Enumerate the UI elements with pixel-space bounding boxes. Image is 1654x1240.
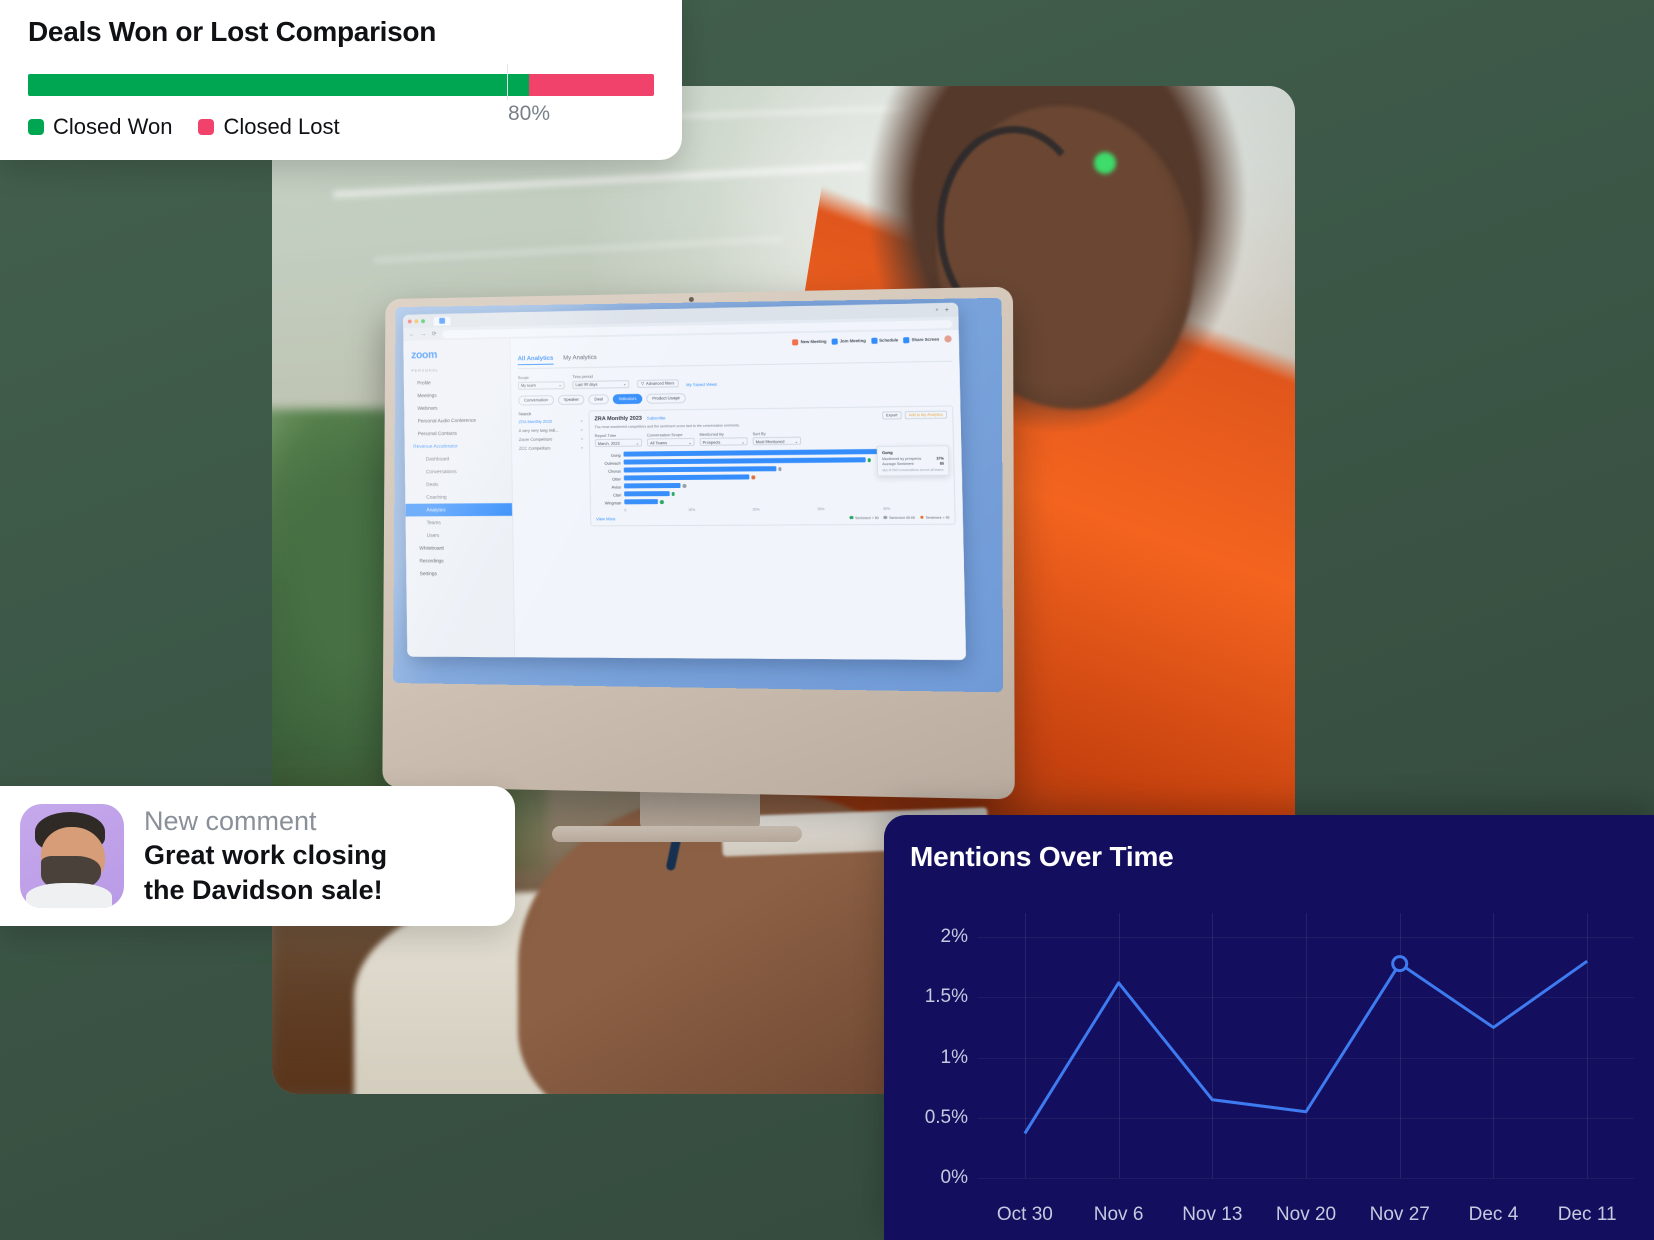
view-more-link[interactable]: View More	[596, 516, 615, 521]
forward-icon[interactable]: →	[420, 331, 426, 337]
tab-favicon-icon	[439, 318, 445, 324]
chip-speaker[interactable]: Speaker	[558, 394, 585, 404]
legend-label: Sentiment < 40	[926, 515, 950, 519]
conversation-scope-select[interactable]: All Teams⌄	[647, 438, 695, 447]
sort-by-field: Sort By Most Mentioned⌄	[752, 430, 801, 445]
deals-card: Deals Won or Lost Comparison Closed Won …	[0, 0, 682, 160]
sentiment-dot-icon	[751, 475, 755, 479]
bar-label: Otter	[595, 476, 621, 481]
bar-fill	[624, 483, 681, 488]
browser-window: × + ← → ⟳ zoom PERSONAL Pr	[403, 303, 966, 660]
chip-conversation[interactable]: Conversation	[518, 395, 554, 405]
new-meeting-label: New Meeting	[801, 339, 827, 345]
advanced-filters-button[interactable]: ▽Advanced filters	[637, 379, 678, 388]
chip-indicators[interactable]: Indicators	[613, 393, 643, 403]
sort-by-value: Most Mentioned	[756, 438, 785, 443]
closed-lost-swatch	[198, 119, 214, 135]
report-card: ZRA Monthly 2023 Subscribe Export Add to…	[588, 405, 955, 526]
legend-item: Sentiment 40-60	[884, 515, 915, 519]
deals-progress-bar	[28, 74, 654, 96]
tooltip-note: Out of 200 conversations across all team…	[882, 468, 944, 473]
deals-percent-label: 80%	[508, 102, 550, 126]
remove-icon[interactable]: ×	[581, 436, 583, 441]
plus-icon	[832, 338, 838, 344]
closed-lost-segment	[529, 74, 654, 96]
bar-fill	[624, 466, 777, 472]
y-tick-label: 0%	[941, 1167, 968, 1189]
closed-won-swatch	[28, 119, 44, 135]
closed-lost-label: Closed Lost	[223, 114, 339, 140]
x-tick-label: Oct 30	[978, 1204, 1072, 1226]
search-result-item[interactable]: A very very long indi...×	[519, 427, 583, 433]
x-axis-labels: Oct 30Nov 6Nov 13Nov 20Nov 27Dec 4Dec 11	[978, 1204, 1634, 1226]
sentiment-high-icon	[850, 516, 854, 519]
search-result-item[interactable]: Zoom Competitors×	[519, 436, 583, 442]
search-label: Search	[518, 410, 582, 416]
legend-label: Sentiment 40-60	[889, 515, 915, 519]
monitor-stand-foot	[552, 826, 802, 842]
monitor-screen: × + ← → ⟳ zoom PERSONAL Pr	[393, 298, 1003, 692]
sidebar-item-personal-contacts[interactable]: Personal Contacts	[404, 426, 511, 440]
app-body: zoom PERSONAL Profile Meetings Webinars …	[403, 330, 966, 660]
mentioned-by-select[interactable]: Prospects⌄	[700, 437, 748, 446]
search-result-label: Zoom Competitors	[519, 436, 553, 441]
tooltip-value: 37%	[936, 456, 944, 460]
app-sidebar: zoom PERSONAL Profile Meetings Webinars …	[403, 339, 515, 657]
highlight-point[interactable]	[1393, 957, 1407, 971]
sentiment-dot-icon	[683, 484, 687, 488]
plot-canvas	[978, 913, 1634, 1178]
scope-select[interactable]: My team⌄	[518, 381, 565, 390]
comment-card: New comment Great work closing the David…	[0, 786, 515, 926]
bar-row[interactable]: Wingman	[596, 496, 949, 506]
avatar-shirt	[26, 883, 111, 908]
legend-label: Sentiment > 60	[855, 515, 879, 519]
bar-fill	[624, 474, 750, 480]
add-to-my-analytics-button[interactable]: Add to My Analytics	[905, 410, 948, 419]
mentioned-by-field: Mentioned By Prospects⌄	[699, 431, 747, 446]
bar-track	[624, 496, 949, 506]
video-icon	[792, 339, 798, 345]
search-result-item[interactable]: ZRA Monthly 2023×	[518, 418, 582, 424]
tab-close-icon[interactable]: ×	[935, 307, 941, 313]
remove-icon[interactable]: ×	[580, 418, 582, 423]
search-result-item[interactable]: ZCC Competitors×	[519, 445, 583, 451]
mentions-plot: 0%0.5%1%1.5%2% Oct 30Nov 6Nov 13Nov 20No…	[910, 913, 1638, 1178]
calendar-icon	[871, 337, 877, 343]
new-tab-icon[interactable]: +	[945, 306, 954, 313]
sidebar-item-settings[interactable]: Settings	[406, 567, 513, 580]
comment-eyebrow: New comment	[144, 806, 387, 837]
remove-icon[interactable]: ×	[581, 445, 583, 450]
schedule-button[interactable]: Schedule	[871, 337, 898, 344]
saved-views-link[interactable]: My Saved Views	[686, 381, 717, 386]
share-screen-button[interactable]: Share Screen	[903, 336, 939, 343]
legend-item: Sentiment < 40	[920, 515, 949, 519]
sentiment-dot-icon	[778, 467, 782, 471]
sort-by-select[interactable]: Most Mentioned⌄	[753, 437, 802, 446]
comment-text: New comment Great work closing the David…	[144, 806, 387, 907]
x-tick-label: 20%	[752, 507, 817, 511]
mentions-card: Mentions Over Time 0%0.5%1%1.5%2% Oct 30…	[884, 815, 1654, 1240]
screenshot-root: × + ← → ⟳ zoom PERSONAL Pr	[0, 0, 1654, 1240]
time-period-value: Last 90 days	[575, 382, 597, 387]
chevron-down-icon: ⌄	[636, 440, 639, 445]
bar-fill	[624, 499, 658, 504]
tab-all-analytics[interactable]: All Analytics	[518, 355, 554, 365]
scope-label: Scope	[518, 374, 565, 380]
schedule-label: Schedule	[879, 337, 898, 342]
content-row: Search ZRA Monthly 2023× A very very lon…	[518, 405, 955, 527]
y-tick-label: 0.5%	[925, 1107, 968, 1129]
deals-legend: Closed Won Closed Lost	[28, 114, 654, 140]
bar-label: Chorus	[595, 468, 621, 473]
sentiment-low-icon	[920, 515, 924, 518]
report-actions: Export Add to My Analytics	[882, 410, 947, 419]
sidebar-item-coaching[interactable]: Coaching	[405, 490, 512, 503]
conversation-scope-field: Conversation Scope All Teams⌄	[647, 431, 695, 446]
comment-message-line-1: Great work closing	[144, 839, 387, 872]
browser-tab[interactable]	[433, 316, 450, 325]
bar-label: Wingman	[596, 500, 622, 505]
conversation-scope-value: All Teams	[650, 440, 667, 445]
sidebar-item-conversations[interactable]: Conversations	[405, 465, 512, 479]
window-maximize-icon[interactable]	[421, 319, 425, 323]
tooltip-title: Gong	[882, 449, 944, 455]
bar-fill	[624, 457, 866, 464]
legend-closed-lost: Closed Lost	[198, 114, 339, 140]
avatar[interactable]	[944, 335, 951, 342]
time-period-field: Time period Last 90 days⌄	[572, 373, 629, 388]
scope-field: Scope My team⌄	[518, 374, 565, 389]
x-tick-label: Nov 20	[1259, 1204, 1353, 1226]
x-tick-label: Nov 27	[1353, 1204, 1447, 1226]
mentioned-by-value: Prospects	[703, 439, 721, 444]
sidebar-item-deals[interactable]: Deals	[405, 477, 512, 491]
highlight-point-layer	[978, 913, 1634, 1178]
chevron-down-icon: ⌄	[795, 438, 798, 443]
bar-label: Outreach	[595, 460, 621, 465]
x-tick-label: Nov 13	[1165, 1204, 1259, 1226]
advanced-filters-label: Advanced filters	[646, 380, 674, 385]
window-minimize-icon[interactable]	[414, 319, 418, 323]
report-title: ZRA Monthly 2023	[594, 415, 642, 422]
app-main: New Meeting Join Meeting Schedule Share …	[511, 330, 967, 660]
back-icon[interactable]: ←	[409, 332, 415, 338]
x-tick-label: 0	[624, 508, 688, 512]
sentiment-dot-icon	[671, 492, 675, 496]
sentiment-legend: Sentiment > 60 Sentiment 40-60 Sentiment…	[850, 515, 950, 520]
sidebar-item-users[interactable]: Users	[406, 529, 513, 542]
grid-line	[978, 1178, 1634, 1179]
chevron-down-icon: ⌄	[623, 381, 626, 386]
comment-message-line-2: the Davidson sale!	[144, 874, 387, 907]
join-meeting-label: Join Meeting	[840, 338, 866, 344]
deals-title: Deals Won or Lost Comparison	[28, 16, 654, 48]
y-axis-labels: 0%0.5%1%1.5%2%	[910, 913, 972, 1178]
report-time-field: Report Time March, 2023⌄	[595, 432, 642, 447]
x-tick-label: 40%	[883, 506, 949, 510]
report-time-label: Report Time	[595, 432, 642, 438]
share-screen-label: Share Screen	[912, 337, 940, 343]
y-tick-label: 1.5%	[925, 986, 968, 1008]
headset-indicator-light	[1094, 152, 1116, 174]
x-tick-label: 30%	[817, 507, 883, 511]
join-meeting-button[interactable]: Join Meeting	[832, 337, 866, 344]
tooltip-value: 85	[940, 462, 944, 466]
zoom-logo: zoom	[403, 345, 510, 368]
sidebar-item-recordings[interactable]: Recordings	[406, 554, 513, 567]
x-tick-label: Nov 6	[1072, 1204, 1166, 1226]
sidebar-item-analytics[interactable]: Analytics	[405, 503, 512, 516]
bar-chart-x-axis: 010%20%30%40%	[596, 506, 949, 512]
chip-product-usage[interactable]: Product Usage	[646, 393, 686, 404]
mentions-title: Mentions Over Time	[910, 841, 1632, 873]
bar-tooltip: Gong Mentioned by prospects37% Average S…	[877, 445, 950, 477]
reload-icon[interactable]: ⟳	[432, 331, 437, 338]
bar-label: Gong	[595, 452, 621, 457]
report-time-select[interactable]: March, 2023⌄	[595, 439, 642, 447]
chevron-down-icon: ⌄	[558, 382, 561, 387]
desktop-monitor: × + ← → ⟳ zoom PERSONAL Pr	[375, 292, 1007, 792]
chip-deal[interactable]: Deal	[588, 394, 608, 404]
analytics-tabs: All Analytics My Analytics	[518, 347, 953, 369]
report-footer: View More Sentiment > 60 Sentiment 40-60…	[596, 515, 949, 522]
legend-item: Sentiment > 60	[850, 515, 879, 519]
bar-label: Clari	[596, 492, 622, 497]
window-close-icon[interactable]	[408, 319, 412, 323]
y-tick-label: 1%	[941, 1047, 968, 1069]
sort-by-label: Sort By	[752, 430, 801, 436]
conversation-scope-label: Conversation Scope	[647, 431, 695, 437]
x-tick-label: Dec 11	[1540, 1204, 1634, 1226]
report-time-value: March, 2023	[598, 440, 620, 445]
chevron-down-icon: ⌄	[688, 439, 691, 444]
closed-won-label: Closed Won	[53, 114, 172, 140]
scope-value: My team	[521, 383, 536, 388]
time-period-select[interactable]: Last 90 days⌄	[572, 380, 629, 389]
remove-icon[interactable]: ×	[580, 427, 582, 432]
legend-closed-won: Closed Won	[28, 114, 172, 140]
tab-my-analytics[interactable]: My Analytics	[563, 354, 597, 364]
time-period-label: Time period	[572, 373, 629, 379]
sidebar-item-revenue-accelerator[interactable]: Revenue Accelerator	[405, 439, 512, 453]
sentiment-dot-icon	[867, 458, 871, 462]
sidebar-item-dashboard[interactable]: Dashboard	[405, 452, 512, 466]
bar-fill	[624, 491, 669, 496]
avatar	[20, 804, 124, 908]
webcam-icon	[689, 297, 694, 302]
tooltip-row: Mentioned by prospects37%	[882, 456, 944, 461]
sidebar-item-whiteboard[interactable]: Whiteboard	[406, 542, 513, 555]
x-tick-label: 10%	[688, 508, 752, 512]
mentioned-by-label: Mentioned By	[699, 431, 747, 437]
search-panel: Search ZRA Monthly 2023× A very very lon…	[518, 410, 584, 527]
tooltip-key: Mentioned by prospects	[882, 456, 921, 460]
x-tick-label: Dec 4	[1447, 1204, 1541, 1226]
tooltip-row: Average Sentiment85	[882, 462, 944, 467]
export-button[interactable]: Export	[882, 411, 902, 419]
category-chips: Conversation Speaker Deal Indicators Pro…	[518, 389, 953, 405]
share-icon	[903, 337, 909, 343]
new-meeting-button[interactable]: New Meeting	[792, 338, 826, 345]
search-result-label: ZCC Competitors	[519, 445, 550, 450]
bar-label: Aviso	[596, 484, 622, 489]
filter-row: Scope My team⌄ Time period Last 90 days⌄…	[518, 368, 953, 390]
report-filters: Report Time March, 2023⌄ Conversation Sc…	[595, 428, 948, 447]
sidebar-item-teams[interactable]: Teams	[406, 516, 513, 529]
sentiment-mid-icon	[884, 516, 888, 519]
chevron-down-icon: ⌄	[741, 439, 744, 444]
tooltip-key: Average Sentiment	[882, 462, 913, 466]
search-result-label: A very very long indi...	[519, 427, 559, 432]
search-result-label: ZRA Monthly 2023	[518, 418, 552, 423]
filter-icon: ▽	[641, 381, 644, 386]
closed-won-segment	[28, 74, 529, 96]
deals-tick-line	[507, 64, 508, 100]
sentiment-dot-icon	[660, 500, 664, 504]
subscribe-link[interactable]: Subscribe	[647, 415, 666, 420]
y-tick-label: 2%	[941, 926, 968, 948]
